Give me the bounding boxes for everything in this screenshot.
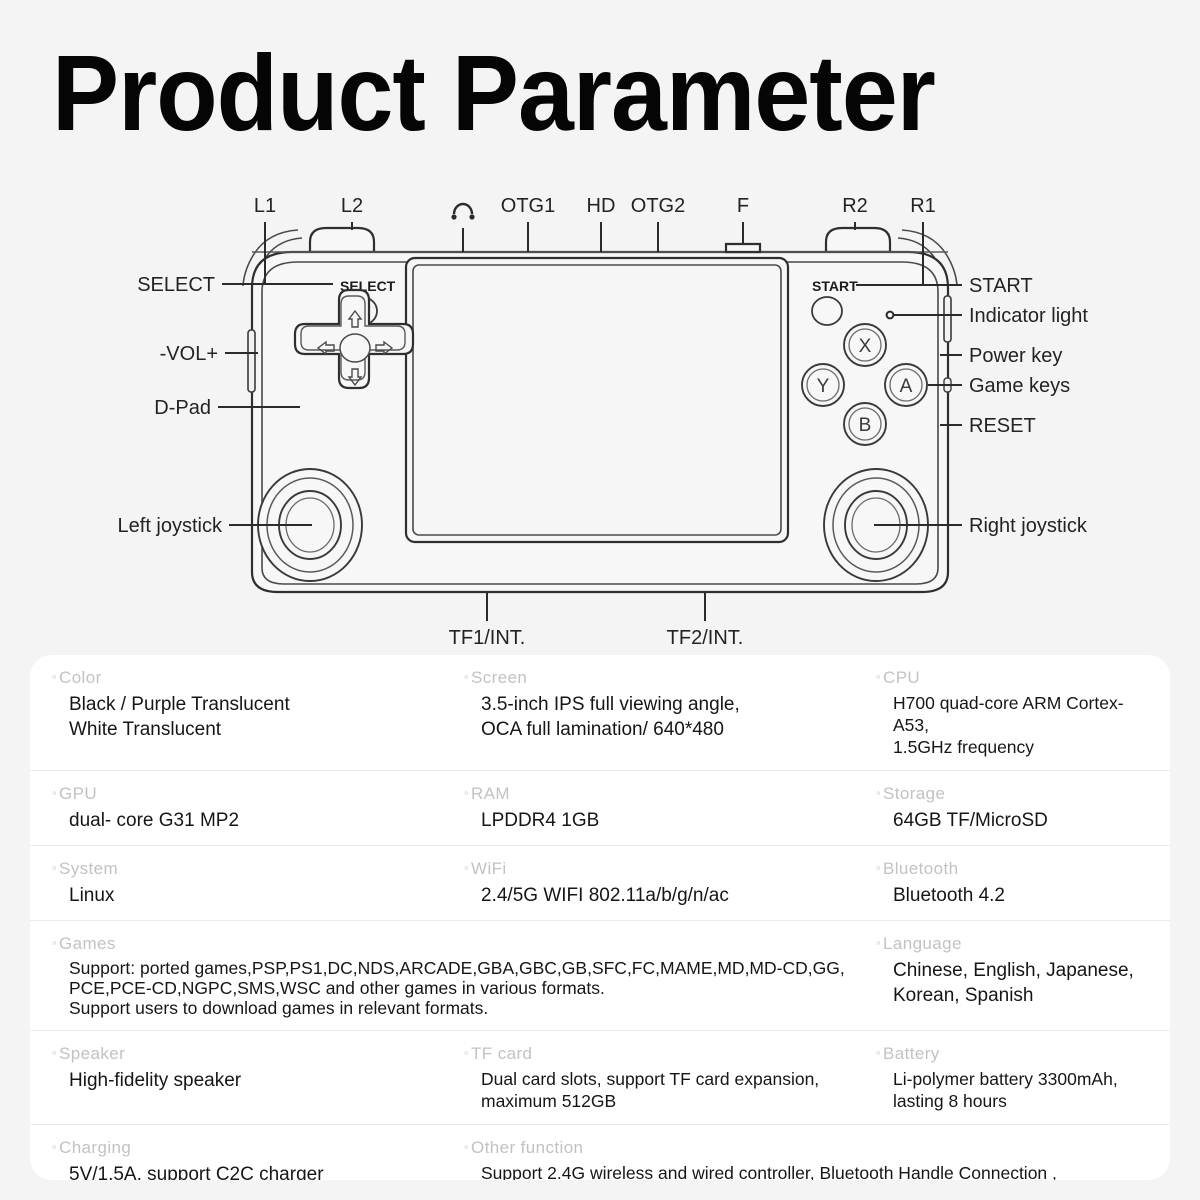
label-r1: R1 bbox=[910, 195, 936, 217]
spec-label: ◦WiFi bbox=[464, 859, 862, 880]
spec-label-text: GPU bbox=[59, 784, 97, 803]
port-f bbox=[726, 244, 760, 252]
label-otg1: OTG1 bbox=[501, 195, 555, 217]
power-key bbox=[944, 296, 951, 342]
table-row: ◦System Linux ◦WiFi 2.4/5G WIFI 802.11a/… bbox=[30, 846, 1170, 921]
spec-value: Linux bbox=[52, 883, 450, 908]
label-l2: L2 bbox=[341, 195, 363, 217]
spec-value: 64GB TF/MicroSD bbox=[876, 808, 1134, 833]
spec-label-text: CPU bbox=[883, 668, 920, 687]
spec-value: Chinese, English, Japanese, Korean, Span… bbox=[876, 958, 1134, 1008]
page-title: Product Parameter bbox=[52, 38, 1075, 148]
spec-label-text: RAM bbox=[471, 784, 510, 803]
bullet-icon: ◦ bbox=[464, 1045, 469, 1060]
spec-value: Support: ported games,PSP,PS1,DC,NDS,ARC… bbox=[52, 958, 862, 1018]
spec-label: ◦Battery bbox=[876, 1044, 1134, 1065]
spec-cell-charging: ◦Charging 5V/1.5A, support C2C charger bbox=[52, 1138, 464, 1180]
spec-value: Support 2.4G wireless and wired controll… bbox=[464, 1162, 1134, 1180]
table-row: ◦GPU dual- core G31 MP2 ◦RAM LPDDR4 1GB … bbox=[30, 771, 1170, 846]
bullet-icon: ◦ bbox=[876, 1045, 881, 1060]
label-power-key: Power key bbox=[969, 345, 1062, 367]
spec-table-card: ◦Color Black / Purple Translucent White … bbox=[30, 655, 1170, 1180]
spec-label: ◦GPU bbox=[52, 784, 450, 805]
spec-cell-speaker: ◦Speaker High-fidelity speaker bbox=[52, 1044, 464, 1112]
bullet-icon: ◦ bbox=[464, 785, 469, 800]
spec-label: ◦Other function bbox=[464, 1138, 1134, 1159]
volume-rocker bbox=[248, 330, 255, 392]
spec-cell-screen: ◦Screen 3.5-inch IPS full viewing angle,… bbox=[464, 668, 876, 758]
spec-label: ◦Language bbox=[876, 934, 1134, 955]
device-diagram: SELECT START X Y A B bbox=[0, 180, 1200, 650]
bullet-icon: ◦ bbox=[52, 1139, 57, 1154]
d-pad-center bbox=[340, 334, 370, 362]
spec-value: LPDDR4 1GB bbox=[464, 808, 862, 833]
spec-value: dual- core G31 MP2 bbox=[52, 808, 450, 833]
bullet-icon: ◦ bbox=[876, 785, 881, 800]
label-r2: R2 bbox=[842, 195, 868, 217]
label-l1: L1 bbox=[254, 195, 276, 217]
label-right-joystick: Right joystick bbox=[969, 515, 1088, 537]
bullet-icon: ◦ bbox=[464, 860, 469, 875]
label-dpad: D-Pad bbox=[154, 397, 211, 419]
spec-label-text: WiFi bbox=[471, 859, 507, 878]
label-hd: HD bbox=[587, 195, 616, 217]
shoulder-button-r2 bbox=[826, 228, 890, 252]
spec-value: H700 quad-core ARM Cortex-A53, 1.5GHz fr… bbox=[876, 692, 1134, 758]
start-button bbox=[812, 297, 842, 325]
spec-value: Bluetooth 4.2 bbox=[876, 883, 1134, 908]
spec-label-text: Color bbox=[59, 668, 102, 687]
spec-label: ◦Screen bbox=[464, 668, 862, 689]
spec-label: ◦Speaker bbox=[52, 1044, 450, 1065]
spec-cell-tf-card: ◦TF card Dual card slots, support TF car… bbox=[464, 1044, 876, 1112]
spec-cell-storage: ◦Storage 64GB TF/MicroSD bbox=[876, 784, 1148, 833]
spec-label: ◦CPU bbox=[876, 668, 1134, 689]
label-vol: -VOL+ bbox=[160, 343, 218, 365]
start-button-text: START bbox=[812, 278, 858, 294]
label-f: F bbox=[737, 195, 749, 217]
bullet-icon: ◦ bbox=[876, 669, 881, 684]
table-row: ◦Charging 5V/1.5A, support C2C charger ◦… bbox=[30, 1125, 1170, 1180]
spec-label-text: Games bbox=[59, 934, 116, 953]
spec-label-text: Charging bbox=[59, 1138, 131, 1157]
table-row: ◦Speaker High-fidelity speaker ◦TF card … bbox=[30, 1031, 1170, 1125]
screen-display bbox=[413, 265, 781, 535]
spec-label-text: System bbox=[59, 859, 118, 878]
bullet-icon: ◦ bbox=[52, 669, 57, 684]
button-x-label: X bbox=[859, 336, 872, 357]
label-select: SELECT bbox=[137, 274, 215, 296]
spec-label-text: Speaker bbox=[59, 1044, 125, 1063]
spec-cell-games: ◦Games Support: ported games,PSP,PS1,DC,… bbox=[52, 934, 876, 1018]
label-tf2: TF2/INT. bbox=[667, 627, 744, 649]
spec-label: ◦Charging bbox=[52, 1138, 450, 1159]
label-reset: RESET bbox=[969, 415, 1036, 437]
button-b-label: B bbox=[859, 415, 872, 436]
spec-value: 2.4/5G WIFI 802.11a/b/g/n/ac bbox=[464, 883, 862, 908]
bullet-icon: ◦ bbox=[52, 860, 57, 875]
spec-cell-bluetooth: ◦Bluetooth Bluetooth 4.2 bbox=[876, 859, 1148, 908]
spec-label-text: Other function bbox=[471, 1138, 583, 1157]
table-row: ◦Games Support: ported games,PSP,PS1,DC,… bbox=[30, 921, 1170, 1031]
headphone-icon bbox=[451, 204, 474, 220]
spec-cell-gpu: ◦GPU dual- core G31 MP2 bbox=[52, 784, 464, 833]
spec-cell-language: ◦Language Chinese, English, Japanese, Ko… bbox=[876, 934, 1148, 1018]
spec-label: ◦Color bbox=[52, 668, 450, 689]
bullet-icon: ◦ bbox=[52, 1045, 57, 1060]
bullet-icon: ◦ bbox=[876, 935, 881, 950]
shoulder-button-l2 bbox=[310, 228, 374, 252]
label-left-joystick: Left joystick bbox=[118, 515, 223, 537]
spec-value: 5V/1.5A, support C2C charger bbox=[52, 1162, 450, 1180]
spec-label: ◦Storage bbox=[876, 784, 1134, 805]
spec-cell-ram: ◦RAM LPDDR4 1GB bbox=[464, 784, 876, 833]
table-row: ◦Color Black / Purple Translucent White … bbox=[30, 655, 1170, 771]
bullet-icon: ◦ bbox=[52, 935, 57, 950]
button-y-label: Y bbox=[817, 376, 830, 397]
spec-label-text: Bluetooth bbox=[883, 859, 958, 878]
spec-value: 3.5-inch IPS full viewing angle, OCA ful… bbox=[464, 692, 862, 742]
spec-value: Dual card slots, support TF card expansi… bbox=[464, 1068, 862, 1112]
spec-label: ◦TF card bbox=[464, 1044, 862, 1065]
label-game-keys: Game keys bbox=[969, 375, 1070, 397]
bullet-icon: ◦ bbox=[464, 1139, 469, 1154]
spec-label: ◦System bbox=[52, 859, 450, 880]
spec-cell-system: ◦System Linux bbox=[52, 859, 464, 908]
spec-value: Black / Purple Translucent White Translu… bbox=[52, 692, 450, 742]
button-a-label: A bbox=[900, 376, 913, 397]
spec-label-text: Screen bbox=[471, 668, 527, 687]
spec-label: ◦RAM bbox=[464, 784, 862, 805]
spec-label-text: TF card bbox=[471, 1044, 532, 1063]
label-otg2: OTG2 bbox=[631, 195, 685, 217]
spec-cell-wifi: ◦WiFi 2.4/5G WIFI 802.11a/b/g/n/ac bbox=[464, 859, 876, 908]
spec-label: ◦Bluetooth bbox=[876, 859, 1134, 880]
spec-cell-cpu: ◦CPU H700 quad-core ARM Cortex-A53, 1.5G… bbox=[876, 668, 1148, 758]
label-indicator-light: Indicator light bbox=[969, 305, 1088, 327]
spec-label-text: Storage bbox=[883, 784, 945, 803]
spec-label-text: Language bbox=[883, 934, 962, 953]
indicator-light bbox=[887, 312, 894, 319]
spec-cell-color: ◦Color Black / Purple Translucent White … bbox=[52, 668, 464, 758]
spec-cell-battery: ◦Battery Li-polymer battery 3300mAh, las… bbox=[876, 1044, 1148, 1112]
label-start: START bbox=[969, 275, 1033, 297]
label-tf1: TF1/INT. bbox=[449, 627, 526, 649]
spec-label-text: Battery bbox=[883, 1044, 940, 1063]
bullet-icon: ◦ bbox=[876, 860, 881, 875]
bullet-icon: ◦ bbox=[464, 669, 469, 684]
bullet-icon: ◦ bbox=[52, 785, 57, 800]
spec-value: Li-polymer battery 3300mAh, lasting 8 ho… bbox=[876, 1068, 1134, 1112]
spec-value: High-fidelity speaker bbox=[52, 1068, 450, 1093]
spec-cell-other-function: ◦Other function Support 2.4G wireless an… bbox=[464, 1138, 1148, 1180]
spec-label: ◦Games bbox=[52, 934, 862, 955]
